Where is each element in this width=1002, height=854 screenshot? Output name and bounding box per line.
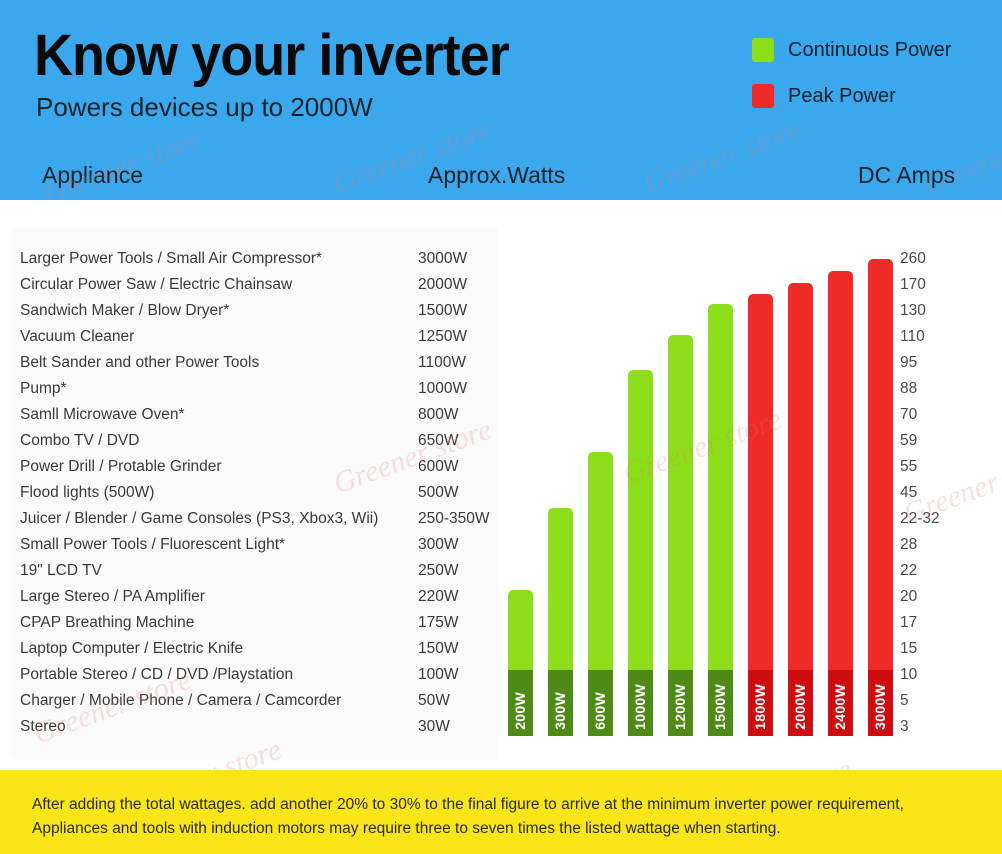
- table-row: Charger / Mobile Phone / Camera / Camcor…: [20, 688, 490, 714]
- footer-line-1: After adding the total wattages. add ano…: [32, 796, 904, 814]
- table-row: Flood lights (500W)500W45: [20, 480, 490, 506]
- legend-label-continuous: Continuous Power: [788, 39, 951, 62]
- table-row: Circular Power Saw / Electric Chainsaw20…: [20, 272, 490, 298]
- chart-bar-label: 600W: [588, 670, 613, 730]
- chart-bar-label-text: 1200W: [668, 684, 693, 730]
- table-row: Combo TV / DVD650W59: [20, 428, 490, 454]
- appliance-watts: 100W: [418, 662, 459, 688]
- appliance-watts: 1250W: [418, 324, 467, 350]
- column-header-watts: Approx.Watts: [428, 162, 565, 189]
- chart-bar: 200W: [508, 590, 533, 736]
- footer-note: After adding the total wattages. add ano…: [0, 770, 1002, 854]
- table-row: Larger Power Tools / Small Air Compresso…: [20, 246, 490, 272]
- appliance-name: Larger Power Tools / Small Air Compresso…: [20, 246, 322, 272]
- appliance-watts: 50W: [418, 688, 450, 714]
- chart-bar-label: 200W: [508, 670, 533, 730]
- table-row: Juicer / Blender / Game Consoles (PS3, X…: [20, 506, 490, 532]
- appliance-name: Combo TV / DVD: [20, 428, 139, 454]
- chart-bar: 1500W: [708, 304, 733, 736]
- appliance-watts: 30W: [418, 714, 450, 740]
- chart-bar-label: 3000W: [868, 670, 893, 730]
- appliance-watts: 3000W: [418, 246, 467, 272]
- page-title: Know your inverter: [34, 22, 509, 89]
- chart-bar-label-text: 200W: [508, 692, 533, 730]
- appliance-watts: 300W: [418, 532, 459, 558]
- appliance-watts: 1000W: [418, 376, 467, 402]
- column-header-appliance: Appliance: [42, 162, 143, 189]
- appliance-table: Larger Power Tools / Small Air Compresso…: [20, 246, 490, 740]
- chart-bar-label: 1000W: [628, 670, 653, 730]
- chart-bar-label-text: 300W: [548, 692, 573, 730]
- legend-item-continuous: Continuous Power: [752, 38, 992, 62]
- chart-bar: 3000W: [868, 259, 893, 736]
- chart-bar-label: 2400W: [828, 670, 853, 730]
- appliance-name: CPAP Breathing Machine: [20, 610, 194, 636]
- appliance-watts: 500W: [418, 480, 459, 506]
- chart-bar: 2000W: [788, 283, 813, 736]
- chart-bar: 1000W: [628, 370, 653, 736]
- appliance-name: Vacuum Cleaner: [20, 324, 134, 350]
- appliance-name: Samll Microwave Oven*: [20, 402, 185, 428]
- chart-bar-label-text: 1500W: [708, 684, 733, 730]
- chart-bar: 2400W: [828, 271, 853, 736]
- appliance-watts: 650W: [418, 428, 459, 454]
- chart-bar-label-text: 3000W: [868, 684, 893, 730]
- chart-bar: 1800W: [748, 294, 773, 736]
- chart-bar-label-text: 2400W: [828, 684, 853, 730]
- appliance-watts: 175W: [418, 610, 459, 636]
- chart-bar: 1200W: [668, 335, 693, 736]
- table-row: 19" LCD TV250W22: [20, 558, 490, 584]
- appliance-name: Power Drill / Protable Grinder: [20, 454, 222, 480]
- appliance-name: Belt Sander and other Power Tools: [20, 350, 259, 376]
- appliance-name: Circular Power Saw / Electric Chainsaw: [20, 272, 292, 298]
- chart-bar: 600W: [588, 452, 613, 736]
- appliance-watts: 1500W: [418, 298, 467, 324]
- chart-bar-label: 1500W: [708, 670, 733, 730]
- appliance-name: 19" LCD TV: [20, 558, 102, 584]
- continuous-power-swatch: [752, 38, 774, 62]
- table-row: Sandwich Maker / Blow Dryer*1500W130: [20, 298, 490, 324]
- table-row: CPAP Breathing Machine175W17: [20, 610, 490, 636]
- peak-power-swatch: [752, 84, 774, 108]
- appliance-watts: 220W: [418, 584, 459, 610]
- chart-legend: Continuous Power Peak Power: [752, 38, 992, 130]
- footer-line-2: Appliances and tools with induction moto…: [32, 820, 781, 838]
- chart-bar-label-text: 600W: [588, 692, 613, 730]
- chart-bar-label-text: 1000W: [628, 684, 653, 730]
- appliance-name: Large Stereo / PA Amplifier: [20, 584, 205, 610]
- table-row: Pump*1000W88: [20, 376, 490, 402]
- appliance-name: Flood lights (500W): [20, 480, 154, 506]
- legend-label-peak: Peak Power: [788, 85, 896, 108]
- appliance-name: Sandwich Maker / Blow Dryer*: [20, 298, 229, 324]
- chart-bar-label: 1200W: [668, 670, 693, 730]
- chart-bar-label-text: 1800W: [748, 684, 773, 730]
- chart-bar-label-text: 2000W: [788, 684, 813, 730]
- table-row: Laptop Computer / Electric Knife150W15: [20, 636, 490, 662]
- table-row: Portable Stereo / CD / DVD /Playstation1…: [20, 662, 490, 688]
- power-bar-chart: 200W300W600W1000W1200W1500W1800W2000W240…: [495, 240, 905, 740]
- table-row: Large Stereo / PA Amplifier220W20: [20, 584, 490, 610]
- appliance-watts: 2000W: [418, 272, 467, 298]
- appliance-name: Portable Stereo / CD / DVD /Playstation: [20, 662, 293, 688]
- column-header-dc-amps: DC Amps: [858, 162, 955, 189]
- table-row: Samll Microwave Oven*800W70: [20, 402, 490, 428]
- inverter-infographic: Know your inverter Powers devices up to …: [0, 0, 1002, 854]
- table-row: Power Drill / Protable Grinder600W55: [20, 454, 490, 480]
- appliance-name: Stereo: [20, 714, 66, 740]
- appliance-watts: 250-350W: [418, 506, 490, 532]
- table-row: Stereo30W3: [20, 714, 490, 740]
- table-row: Vacuum Cleaner1250W110: [20, 324, 490, 350]
- appliance-name: Pump*: [20, 376, 67, 402]
- appliance-name: Juicer / Blender / Game Consoles (PS3, X…: [20, 506, 378, 532]
- appliance-name: Small Power Tools / Fluorescent Light*: [20, 532, 285, 558]
- header-banner: Know your inverter Powers devices up to …: [0, 0, 1002, 200]
- appliance-name: Charger / Mobile Phone / Camera / Camcor…: [20, 688, 341, 714]
- appliance-dc-amps: 22-32: [900, 506, 940, 532]
- appliance-watts: 250W: [418, 558, 459, 584]
- legend-item-peak: Peak Power: [752, 84, 992, 108]
- appliance-watts: 800W: [418, 402, 459, 428]
- table-row: Belt Sander and other Power Tools1100W95: [20, 350, 490, 376]
- appliance-watts: 1100W: [418, 350, 466, 376]
- appliance-watts: 600W: [418, 454, 459, 480]
- chart-bar-label: 1800W: [748, 670, 773, 730]
- appliance-name: Laptop Computer / Electric Knife: [20, 636, 243, 662]
- chart-bar-label: 2000W: [788, 670, 813, 730]
- appliance-watts: 150W: [418, 636, 459, 662]
- chart-bar: 300W: [548, 508, 573, 736]
- page-subtitle: Powers devices up to 2000W: [36, 92, 373, 123]
- chart-bar-label: 300W: [548, 670, 573, 730]
- table-row: Small Power Tools / Fluorescent Light*30…: [20, 532, 490, 558]
